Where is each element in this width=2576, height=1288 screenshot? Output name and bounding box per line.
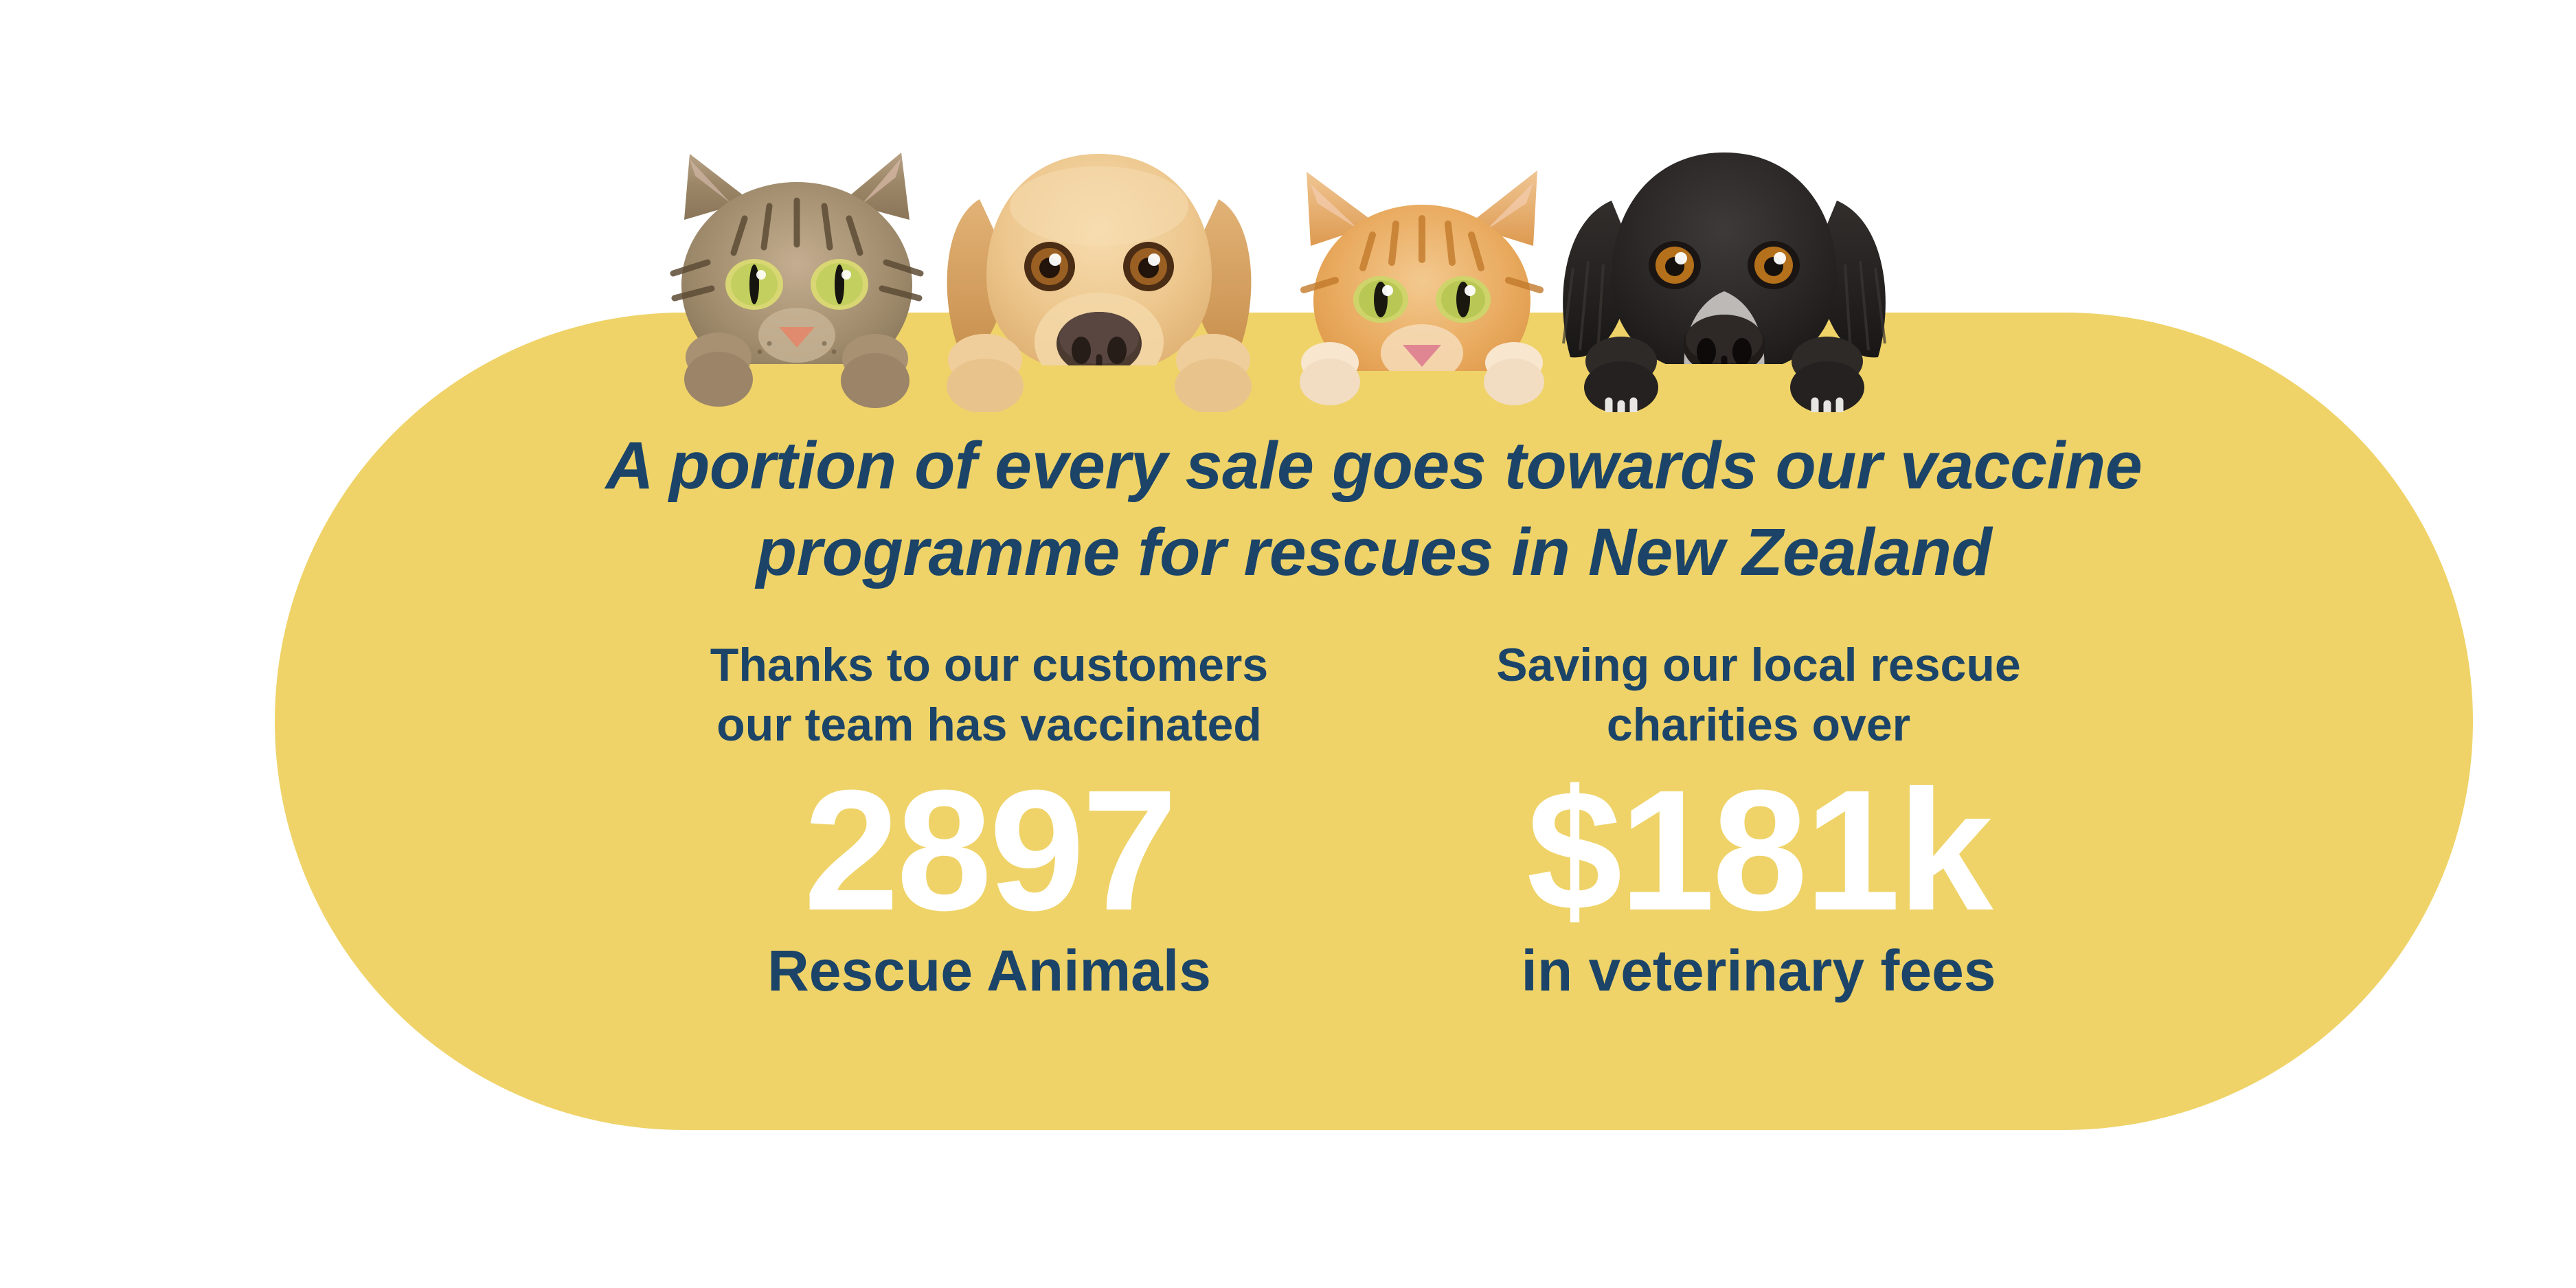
headline-line-2: programme for rescues in New Zealand [275,509,2473,596]
promo-banner: A portion of every sale goes towards our… [0,0,2576,1288]
stat-block-rescue-animals: Thanks to our customers our team has vac… [625,635,1374,1001]
stat-caption: Saving our local rescue charities over [1394,635,2123,755]
stat-caption-line-1: Thanks to our customers [625,635,1353,695]
headline-line-1: A portion of every sale goes towards our… [275,422,2473,509]
stat-caption-line-1: Saving our local rescue [1394,635,2123,695]
stat-label-rescue-animals: Rescue Animals [625,940,1353,1001]
stat-caption-line-2: charities over [1394,695,2123,755]
stats-row: Thanks to our customers our team has vac… [275,635,2473,1001]
stat-caption: Thanks to our customers our team has vac… [625,635,1353,755]
stat-label-veterinary-fees: in veterinary fees [1394,940,2123,1001]
pill-content: A portion of every sale goes towards our… [275,313,2473,1130]
headline: A portion of every sale goes towards our… [275,422,2473,596]
stat-value-rescue-animals: 2897 [625,765,1353,936]
stat-block-veterinary-fees: Saving our local rescue charities over $… [1374,635,2123,1001]
stat-caption-line-2: our team has vaccinated [625,695,1353,755]
stat-value-veterinary-fees: $181k [1394,765,2123,936]
